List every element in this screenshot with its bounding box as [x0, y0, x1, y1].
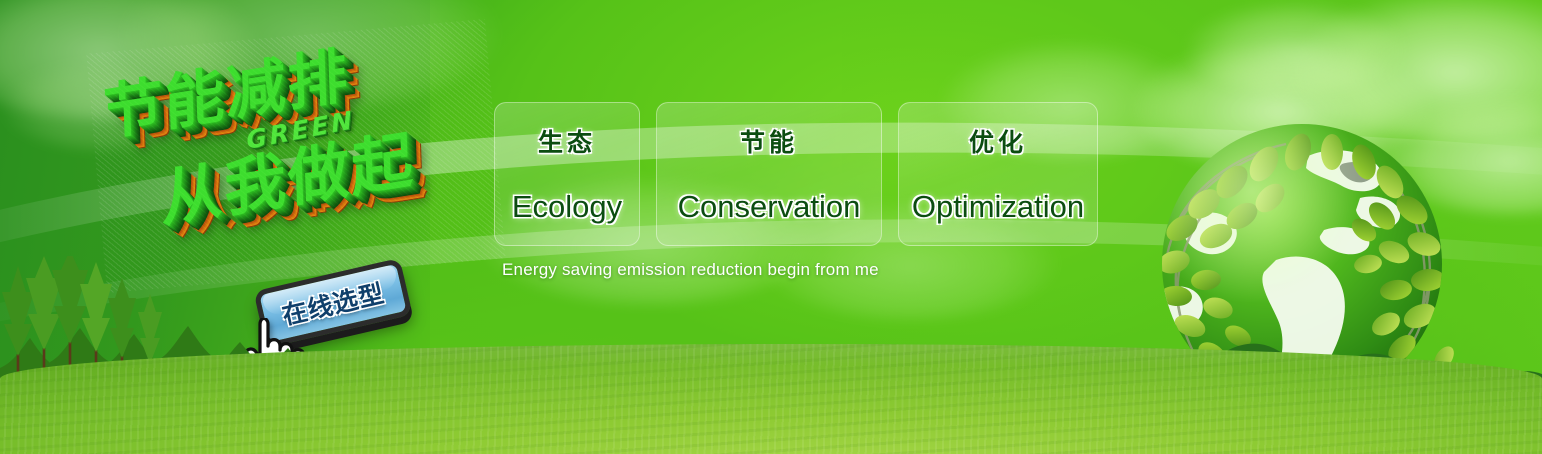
feature-card-title-en: Conservation: [678, 189, 861, 225]
feature-card-conservation[interactable]: 节能 Conservation: [656, 102, 882, 246]
feature-card-title-en: Ecology: [512, 189, 622, 225]
feature-card-optimization[interactable]: 优化 Optimization: [898, 102, 1098, 246]
grass-texture-overlay: [0, 344, 1542, 454]
eco-promo-banner: 节能减排 GREEN 从我做起 在线选型 生态 Ecology 节能 Conse…: [0, 0, 1542, 454]
feature-card-title-cn: 节能: [740, 123, 798, 159]
feature-card-ecology[interactable]: 生态 Ecology: [494, 102, 640, 246]
headline-3d-artwork: 节能减排 GREEN 从我做起: [86, 19, 505, 293]
banner-tagline: Energy saving emission reduction begin f…: [502, 260, 879, 280]
feature-card-title-en: Optimization: [912, 189, 1084, 225]
feature-card-title-cn: 优化: [969, 123, 1027, 159]
feature-card-list: 生态 Ecology 节能 Conservation 优化 Optimizati…: [494, 102, 1098, 246]
feature-card-title-cn: 生态: [538, 123, 596, 159]
